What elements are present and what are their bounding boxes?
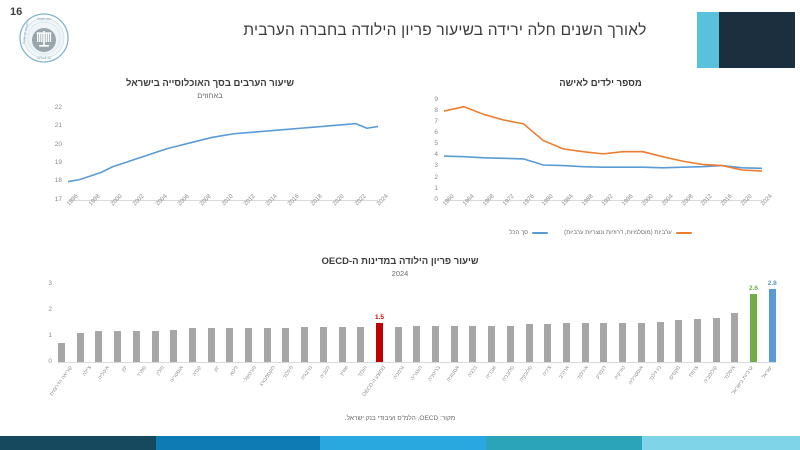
chart2-title: מספר ילדים לאישה — [408, 78, 793, 90]
x-axis-line — [58, 362, 776, 363]
bar-column[interactable] — [170, 284, 177, 362]
chart1-line-svg — [68, 108, 378, 200]
legend-label: ערביות (מוסלמיות, דרוזיות ונוצריות ערביו… — [564, 230, 672, 236]
bar[interactable] — [469, 326, 476, 362]
bar[interactable] — [451, 326, 458, 362]
bar-column[interactable] — [582, 284, 589, 362]
bar[interactable] — [413, 326, 420, 362]
bar-column[interactable] — [713, 284, 720, 362]
y-axis-tick: 1 — [422, 186, 438, 193]
bar[interactable] — [713, 318, 720, 362]
bar-column[interactable] — [488, 284, 495, 362]
bar[interactable] — [675, 320, 682, 362]
y-axis-tick: 5 — [422, 141, 438, 148]
y-axis-tick: 0 — [422, 197, 438, 204]
bar-column[interactable] — [731, 284, 738, 362]
y-axis-tick: 9 — [422, 97, 438, 104]
footer-bar-4 — [320, 436, 486, 450]
y-axis-tick: 4 — [422, 152, 438, 159]
header-accent-block-cyan — [697, 12, 719, 68]
bar-column[interactable] — [208, 284, 215, 362]
chart1-subtitle: באחוזים — [20, 91, 400, 100]
bar[interactable] — [657, 322, 664, 362]
y-axis-tick: 2 — [422, 175, 438, 182]
bar-column[interactable] — [638, 284, 645, 362]
bar[interactable] — [208, 328, 215, 362]
bar[interactable] — [395, 327, 402, 362]
header-accent-block-dark — [719, 12, 795, 68]
bar-column[interactable]: 2.6 — [750, 284, 757, 362]
bar[interactable] — [170, 330, 177, 363]
series-line-סך הכל — [444, 156, 762, 168]
bar[interactable] — [133, 331, 140, 362]
bar[interactable] — [77, 333, 84, 362]
series-line-שיעור הערבים — [68, 124, 378, 182]
chart-oecd-fertility: שיעור פריון הילודה במדינות ה-OECD 2024 1… — [16, 256, 784, 416]
bar[interactable] — [507, 326, 514, 362]
y-axis-tick: 6 — [422, 130, 438, 137]
y-axis-tick: 7 — [422, 119, 438, 126]
chart1-title: שיעור הערבים בסך האוכלוסייה בישראל — [20, 78, 400, 90]
bar-column[interactable] — [694, 284, 701, 362]
bar[interactable] — [301, 327, 308, 362]
bar-column[interactable] — [95, 284, 102, 362]
bar[interactable] — [95, 331, 102, 362]
footer-bar-6 — [642, 436, 800, 450]
bar-column[interactable] — [301, 284, 308, 362]
bar-column[interactable] — [77, 284, 84, 362]
bar-column[interactable] — [600, 284, 607, 362]
bar[interactable] — [750, 294, 757, 362]
y-axis-tick: 21 — [46, 123, 62, 130]
chart-arab-share-population: שיעור הערבים בסך האוכלוסייה בישראל באחוז… — [20, 78, 400, 238]
y-axis-tick: 18 — [46, 178, 62, 185]
legend-item: סך הכל — [509, 230, 548, 236]
bar-column[interactable] — [320, 284, 327, 362]
chart2-legend: ערביות (מוסלמיות, דרוזיות ונוצריות ערביו… — [408, 230, 793, 236]
legend-swatch — [532, 232, 548, 235]
legend-item: ערביות (מוסלמיות, דרוזיות ונוצריות ערביו… — [564, 230, 692, 236]
bar-column[interactable] — [226, 284, 233, 362]
chart3-title: שיעור פריון הילודה במדינות ה-OECD — [16, 256, 784, 268]
bar-column[interactable] — [619, 284, 626, 362]
y-axis-tick: 20 — [46, 142, 62, 149]
y-axis-tick: 22 — [46, 105, 62, 112]
bar-column[interactable] — [451, 284, 458, 362]
chart2-line-svg — [444, 100, 762, 200]
bar[interactable] — [245, 328, 252, 362]
bar[interactable] — [600, 323, 607, 362]
bar-column[interactable] — [58, 284, 65, 362]
y-axis-tick: 3 — [422, 163, 438, 170]
y-axis-tick: 2 — [36, 307, 52, 314]
bar-column[interactable] — [339, 284, 346, 362]
y-axis-tick: 8 — [422, 108, 438, 115]
footer-bar-3 — [156, 436, 320, 450]
bar-column[interactable]: 1.5 — [376, 284, 383, 362]
bar[interactable] — [282, 328, 289, 362]
bar[interactable] — [582, 323, 589, 362]
bar-column[interactable]: 2.8 — [769, 284, 776, 362]
source-note: מקור: OECD, הלמ"ס ועיבודי בנק ישראל. — [0, 415, 800, 422]
chart3-bars: 1.52.62.8 — [58, 284, 776, 362]
bar[interactable] — [619, 323, 626, 362]
bar-column[interactable] — [395, 284, 402, 362]
bar[interactable] — [114, 331, 121, 362]
bar[interactable] — [339, 327, 346, 362]
chart3-subtitle: 2024 — [16, 269, 784, 278]
bar-value-label: 2.8 — [768, 280, 777, 287]
chart2-plot-area — [444, 100, 762, 200]
bar[interactable] — [488, 326, 495, 362]
bar-value-label: 1.5 — [375, 314, 384, 321]
bar[interactable] — [432, 326, 439, 362]
bar[interactable] — [264, 328, 271, 362]
bar-column[interactable] — [245, 284, 252, 362]
bar[interactable] — [544, 324, 551, 362]
bar[interactable] — [189, 328, 196, 362]
bar[interactable] — [58, 343, 65, 363]
bar-column[interactable] — [432, 284, 439, 362]
bar-column[interactable] — [413, 284, 420, 362]
bar-column[interactable] — [507, 284, 514, 362]
bar[interactable] — [769, 289, 776, 362]
footer-bar-2 — [24, 436, 156, 450]
bank-of-israel-logo: בנק ישראל BANK OF ISRAEL بنك إسرائيل — [18, 12, 70, 64]
footer-bar-5 — [486, 436, 642, 450]
y-axis-tick: 17 — [46, 197, 62, 204]
legend-swatch — [676, 232, 692, 235]
bar[interactable] — [638, 323, 645, 362]
bar-column[interactable] — [657, 284, 664, 362]
bar[interactable] — [357, 327, 364, 362]
bar[interactable] — [376, 323, 383, 362]
legend-label: סך הכל — [509, 230, 528, 236]
bar-column[interactable] — [133, 284, 140, 362]
y-axis-tick: 3 — [36, 281, 52, 288]
bar[interactable] — [526, 324, 533, 362]
bar-column[interactable] — [152, 284, 159, 362]
chart1-plot-area — [68, 108, 378, 200]
chart3-plot-area: 1.52.62.8 — [58, 284, 776, 362]
bar-value-label: 2.6 — [749, 285, 758, 292]
bar-column[interactable] — [357, 284, 364, 362]
bar[interactable] — [226, 328, 233, 362]
bar-column[interactable] — [675, 284, 682, 362]
chart-children-per-woman: מספר ילדים לאישה ערביות (מוסלמיות, דרוזי… — [408, 78, 793, 253]
y-axis-tick: 0 — [36, 359, 52, 366]
page-title: לאורך השנים חלה ירידה בשיעור פריון הילוד… — [200, 22, 690, 40]
slide-canvas: 16 בנק ישראל BANK OF ISRAEL بنك إس — [0, 0, 800, 450]
footer-bar-1 — [0, 436, 24, 450]
bar-column[interactable] — [114, 284, 121, 362]
bar-column[interactable] — [264, 284, 271, 362]
bar[interactable] — [731, 313, 738, 362]
bar-column[interactable] — [526, 284, 533, 362]
svg-text:בנק ישראל: בנק ישראל — [37, 17, 51, 21]
x-axis-tick: 2024 — [760, 194, 774, 208]
bar[interactable] — [152, 331, 159, 362]
x-axis-tick: 2024 — [376, 194, 390, 208]
bar-column[interactable] — [189, 284, 196, 362]
bar[interactable] — [563, 323, 570, 362]
series-line-ערביות (מוסלמיות, דרוזיות ונוצריות ערביות) — [444, 107, 762, 171]
y-axis-tick: 19 — [46, 160, 62, 167]
bar-column[interactable] — [282, 284, 289, 362]
bar[interactable] — [694, 319, 701, 362]
bar[interactable] — [320, 327, 327, 362]
bar-column[interactable] — [563, 284, 570, 362]
y-axis-tick: 1 — [36, 333, 52, 340]
bar-column[interactable] — [469, 284, 476, 362]
bar-column[interactable] — [544, 284, 551, 362]
